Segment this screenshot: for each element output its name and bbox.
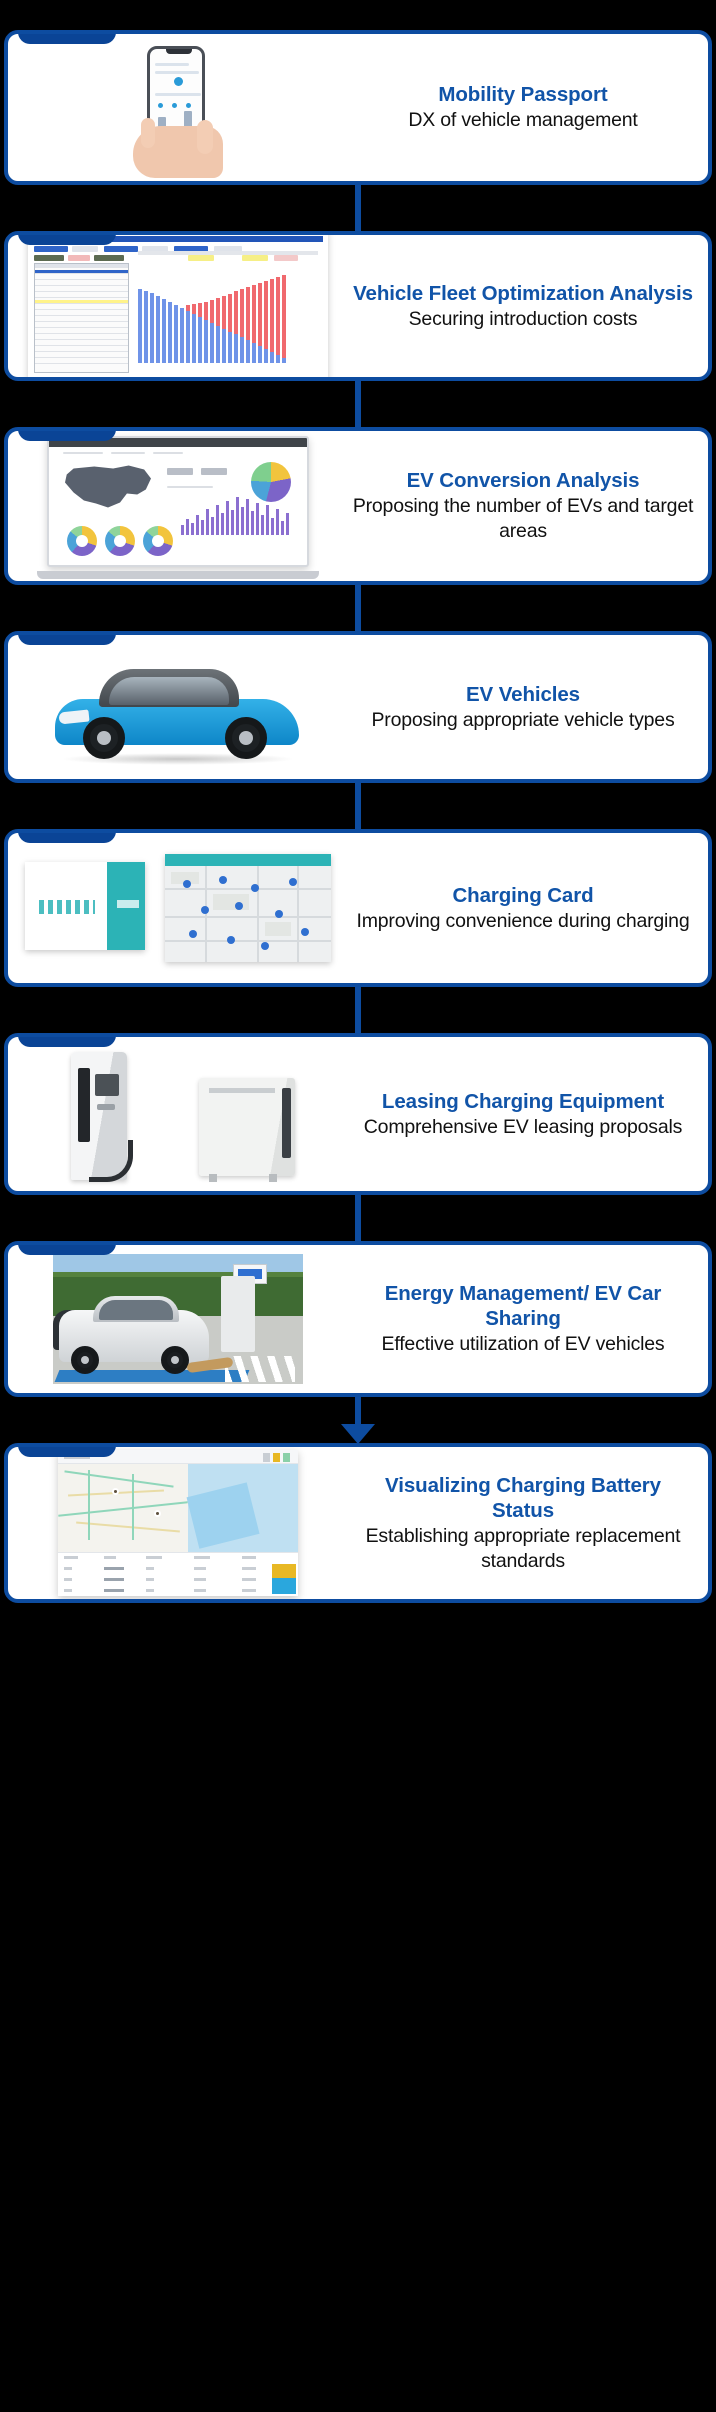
connector-line-1-to-2 [355,185,361,231]
step-badge-6: STEP6 [18,1033,116,1047]
step-image-2 [8,235,348,377]
step-card-8[interactable]: STEP8 [4,1443,712,1603]
step-badge-label: STEP [33,231,84,236]
step-badge-label: STEP [33,829,84,834]
battery-warning-badge [272,1564,296,1578]
step-card-4[interactable]: STEP4 EV Vehicles Proposing appropriate … [4,631,712,783]
connector-gap-5 [0,783,716,829]
step-badge-label: STEP [33,30,84,35]
step-subtitle-5: Improving convenience during charging [352,909,694,934]
step-text-7: Energy Management/ EV Car Sharing Effect… [348,1271,708,1367]
step-image-5 [8,833,348,983]
step-card-3[interactable]: STEP3 [4,427,712,585]
step-title-2: Vehicle Fleet Optimization Analysis [352,281,694,306]
step-title-4: EV Vehicles [352,682,694,707]
ev-service-steps-flow: STEP1 [0,0,716,1605]
step-image-6 [8,1037,348,1191]
step-badge-number: 2 [87,231,101,237]
step-image-3 [8,431,348,581]
step-image-1 [8,34,348,181]
step-badge-1: STEP1 [18,30,116,44]
vehicle-location-map [58,1464,298,1552]
step-subtitle-3: Proposing the number of EVs and target a… [352,494,694,543]
connector-line-4-to-5 [355,783,361,829]
step-badge-number: 6 [87,1033,101,1039]
step-title-5: Charging Card [352,883,694,908]
step-image-4 [8,635,348,779]
power-unit-icon [199,1078,295,1176]
step-block-2: STEP2 [0,185,716,381]
step-card-2[interactable]: STEP2 [4,231,712,381]
step-block-3: STEP3 [0,381,716,585]
step-badge-number: 5 [87,829,101,835]
step-subtitle-4: Proposing appropriate vehicle types [352,708,694,733]
step-badge-number: 3 [87,427,101,433]
step-text-5: Charging Card Improving convenience duri… [348,873,708,944]
step-title-8: Visualizing Charging Battery Status [352,1473,694,1523]
step-text-6: Leasing Charging Equipment Comprehensive… [348,1079,708,1150]
step-subtitle-1: DX of vehicle management [352,108,694,133]
bi-dashboard-map-charts-icon [33,434,323,579]
connector-line-3-to-4 [355,585,361,631]
battery-status-table [58,1552,298,1596]
step-block-8: STEP8 [0,1397,716,1603]
step-subtitle-8: Establishing appropriate replacement sta… [352,1524,694,1573]
charging-card-and-station-map-icon [23,846,333,970]
ev-charger-and-power-unit-icon [53,1044,303,1184]
fleet-cost-stacked-bar-chart [138,265,320,363]
connector-gap-8 [0,1397,716,1443]
connector-gap-6 [0,987,716,1033]
step-subtitle-2: Securing introduction costs [352,307,694,332]
step-text-1: Mobility Passport DX of vehicle manageme… [348,72,708,143]
step-subtitle-6: Comprehensive EV leasing proposals [352,1115,694,1140]
connector-line-2-to-3 [355,381,361,427]
area-chart [181,493,293,535]
step-title-1: Mobility Passport [352,82,694,107]
step-block-7: STEP7 [0,1195,716,1397]
connector-gap-7 [0,1195,716,1241]
white-ev-at-charging-bay-photo-icon [53,1254,303,1384]
step-badge-number: 8 [87,1443,101,1449]
step-image-8 [8,1447,348,1599]
step-title-3: EV Conversion Analysis [352,468,694,493]
step-text-8: Visualizing Charging Battery Status Esta… [348,1463,708,1583]
step-badge-label: STEP [33,427,84,432]
blue-electric-hatchback-car-icon [43,647,313,767]
battery-ok-badge [272,1578,296,1594]
connector-gap-4 [0,585,716,631]
connector-line-5-to-6 [355,987,361,1033]
step-badge-2: STEP2 [18,231,116,245]
step-text-4: EV Vehicles Proposing appropriate vehicl… [348,672,708,743]
step-image-7 [8,1245,348,1393]
step-text-2: Vehicle Fleet Optimization Analysis Secu… [348,271,708,342]
connector-line-6-to-7 [355,1195,361,1241]
step-title-7: Energy Management/ EV Car Sharing [352,1281,694,1331]
step-badge-label: STEP [33,1443,84,1448]
step-block-6: STEP6 [0,987,716,1195]
connector-gap-3 [0,381,716,427]
step-block-1: STEP1 [0,0,716,185]
step-block-5: STEP5 [0,783,716,987]
connector-gap-2 [0,185,716,231]
step-badge-7: STEP7 [18,1241,116,1255]
step-badge-8: STEP8 [18,1443,116,1457]
step-card-5[interactable]: STEP5 [4,829,712,987]
step-badge-4: STEP4 [18,631,116,645]
step-badge-3: STEP3 [18,427,116,441]
step-card-7[interactable]: STEP7 [4,1241,712,1397]
arrow-down-icon [341,1424,375,1444]
us-map-icon [65,464,151,514]
step-badge-label: STEP [33,631,84,636]
hand-holding-smartphone-dashboard-icon [103,42,253,174]
step-badge-number: 7 [87,1241,101,1247]
charging-station-map-icon [165,854,331,962]
step-badge-number: 1 [87,30,101,36]
step-badge-label: STEP [33,1033,84,1038]
fleet-analysis-spreadsheet-chart-icon [28,231,328,381]
step-text-3: EV Conversion Analysis Proposing the num… [348,458,708,553]
map-and-battery-status-table-app-icon [48,1450,308,1596]
step-subtitle-7: Effective utilization of EV vehicles [352,1332,694,1357]
step-card-6[interactable]: STEP6 [4,1033,712,1195]
step-block-4: STEP4 EV Vehicles Proposing appropriate … [0,585,716,783]
step-title-6: Leasing Charging Equipment [352,1089,694,1114]
step-badge-number: 4 [87,631,101,637]
step-card-1[interactable]: STEP1 [4,30,712,185]
step-badge-5: STEP5 [18,829,116,843]
step-badge-label: STEP [33,1241,84,1246]
charging-card-icon [25,862,145,950]
